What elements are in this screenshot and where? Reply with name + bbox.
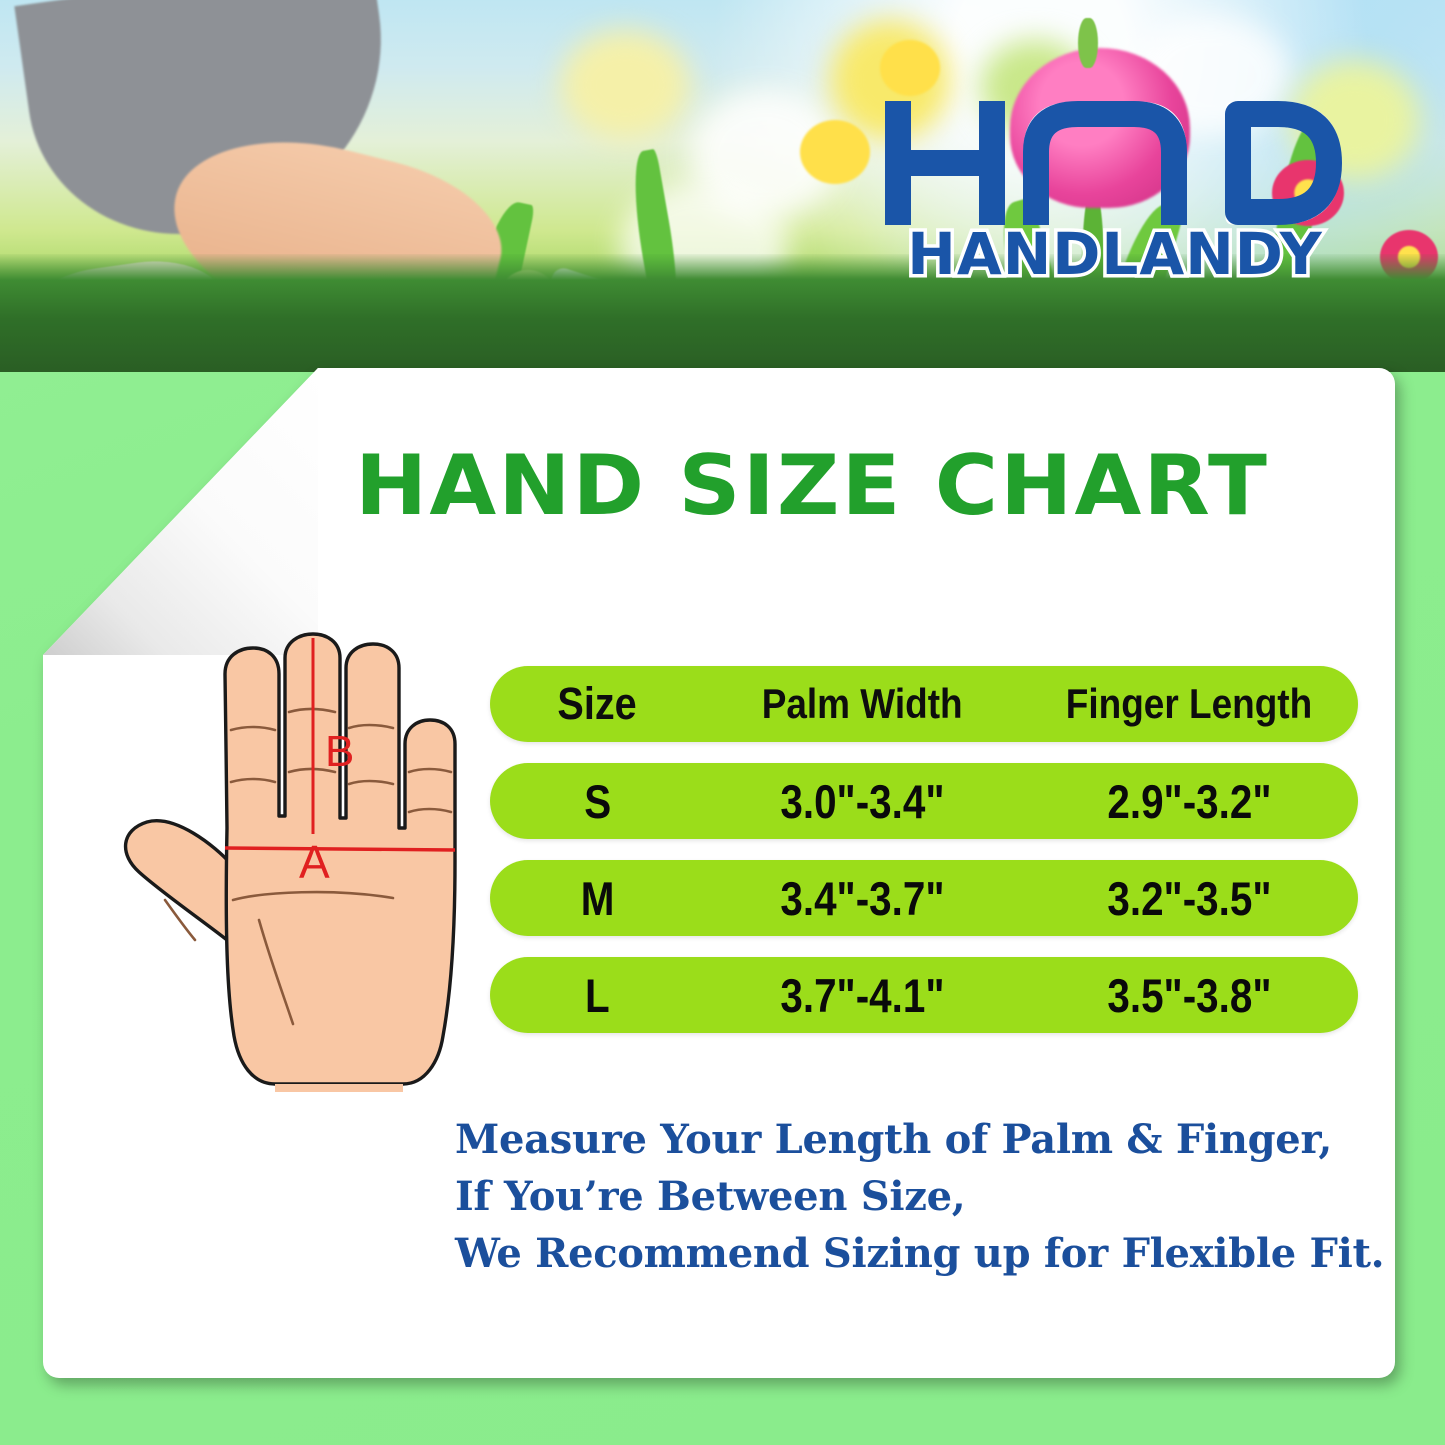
column-header-size: Size [490, 678, 705, 730]
cell-palm-width: 3.7"-4.1" [705, 968, 1020, 1023]
yellow-flower [800, 120, 870, 184]
logo-wordmark: HANDLANDY [907, 220, 1322, 285]
cell-finger-length: 2.9"-3.2" [1020, 774, 1358, 829]
cell-palm-width: 3.0"-3.4" [705, 774, 1020, 829]
table-header-row: Size Palm Width Finger Length [490, 666, 1358, 742]
instruction-line-1: Measure Your Length of Palm & Finger, [455, 1112, 1384, 1169]
page-background: HANDLANDY HAND SIZE CHART [0, 0, 1445, 1445]
folded-corner [43, 368, 319, 657]
instruction-line-2: If You’re Between Size, [455, 1169, 1384, 1226]
cell-finger-length: 3.2"-3.5" [1020, 871, 1358, 926]
measurement-instructions: Measure Your Length of Palm & Finger, If… [455, 1112, 1384, 1282]
column-header-palm-width: Palm Width [705, 680, 1020, 728]
table-row: M 3.4"-3.7" 3.2"-3.5" [490, 860, 1358, 936]
hand-measurement-diagram: B A [103, 632, 493, 1092]
size-chart-table: Size Palm Width Finger Length S 3.0"-3.4… [490, 666, 1358, 1054]
handlandy-logo: HANDLANDY [880, 90, 1350, 285]
palm-width-label: A [299, 836, 330, 888]
cell-size: M [490, 871, 705, 926]
flower-bud [1078, 18, 1098, 68]
finger-length-label: B [325, 727, 354, 776]
instruction-line-3: We Recommend Sizing up for Flexible Fit. [455, 1226, 1384, 1283]
cell-size: L [490, 968, 705, 1023]
cell-palm-width: 3.4"-3.7" [705, 871, 1020, 926]
table-row: L 3.7"-4.1" 3.5"-3.8" [490, 957, 1358, 1033]
palm-width-line [225, 848, 455, 850]
yellow-flower [880, 40, 940, 96]
bokeh-blob [560, 30, 690, 140]
table-row: S 3.0"-3.4" 2.9"-3.2" [490, 763, 1358, 839]
column-header-finger-length: Finger Length [1020, 680, 1358, 728]
page-title: HAND SIZE CHART [355, 444, 1269, 527]
cell-size: S [490, 774, 705, 829]
cell-finger-length: 3.5"-3.8" [1020, 968, 1358, 1023]
